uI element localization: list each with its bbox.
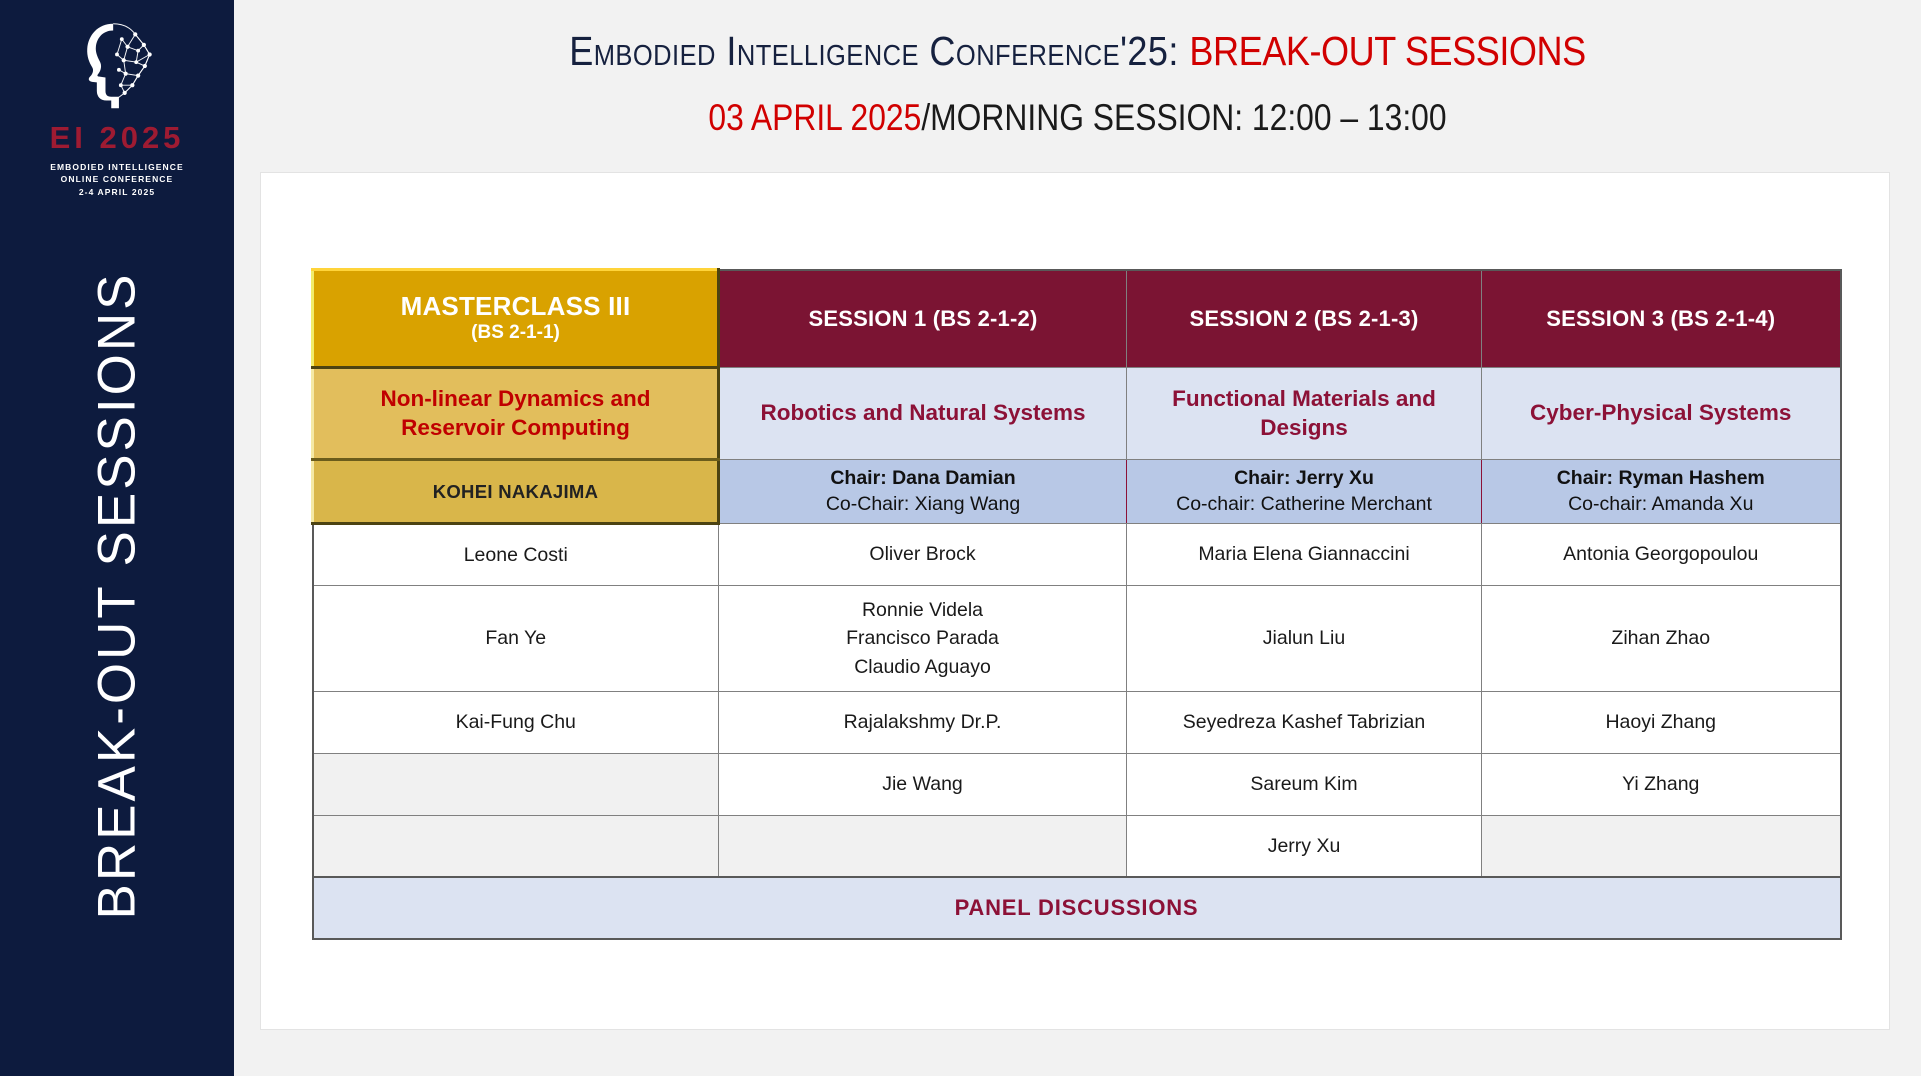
chair-session-3-name: Chair: Ryman Hashem: [1490, 466, 1832, 492]
topic-masterclass: Non-linear Dynamics and Reservoir Comput…: [313, 368, 719, 460]
cochair-session-2-name: Co-chair: Catherine Merchant: [1135, 492, 1473, 518]
page-title-main: Embodied Intelligence Conference'25:: [569, 28, 1189, 74]
chair-session-2-name: Chair: Jerry Xu: [1135, 466, 1473, 492]
slide-root: EI 2025 EMBODIED INTELLIGENCE ONLINE CON…: [0, 0, 1921, 1076]
speaker-name: Jialun Liu: [1133, 624, 1475, 652]
table-row: Leone Costi Oliver Brock Maria Elena Gia…: [313, 524, 1841, 586]
table-chair-row: KOHEI NAKAJIMA Chair: Dana Damian Co-Cha…: [313, 460, 1841, 524]
speaker-cell: Haoyi Zhang: [1482, 691, 1841, 753]
table-topic-row: Non-linear Dynamics and Reservoir Comput…: [313, 368, 1841, 460]
speaker-name: Zihan Zhao: [1488, 624, 1834, 652]
panel-discussions-label: PANEL DISCUSSIONS: [313, 877, 1841, 939]
speaker-cell: [1482, 815, 1841, 877]
chair-masterclass: KOHEI NAKAJIMA: [313, 460, 719, 524]
speaker-name: Francisco Parada: [725, 624, 1120, 652]
chair-session-2: Chair: Jerry Xu Co-chair: Catherine Merc…: [1127, 460, 1482, 524]
speaker-name: Jie Wang: [725, 770, 1120, 798]
topic-session-2: Functional Materials and Designs: [1127, 368, 1482, 460]
speaker-cell: [313, 815, 719, 877]
speaker-name: Leone Costi: [320, 541, 713, 569]
speaker-cell: Yi Zhang: [1482, 753, 1841, 815]
table-row: Fan Ye Ronnie VidelaFrancisco ParadaClau…: [313, 586, 1841, 692]
session-time: /MORNING SESSION: 12:00 – 13:00: [921, 97, 1446, 138]
speaker-name: Jerry Xu: [1133, 832, 1475, 860]
sidebar-vertical-title-text: BREAK-OUT SESSIONS: [87, 272, 148, 920]
speaker-name: Maria Elena Giannaccini: [1133, 540, 1475, 568]
speaker-cell: Kai-Fung Chu: [313, 691, 719, 753]
speaker-name: Oliver Brock: [725, 540, 1120, 568]
speaker-cell: Ronnie VidelaFrancisco ParadaClaudio Agu…: [719, 586, 1127, 692]
sidebar: EI 2025 EMBODIED INTELLIGENCE ONLINE CON…: [0, 0, 234, 1076]
page-title: Embodied Intelligence Conference'25: BRE…: [335, 28, 1820, 75]
column-header-session-3[interactable]: SESSION 3 (BS 2-1-4): [1482, 270, 1841, 368]
table-row: Kai-Fung Chu Rajalakshmy Dr.P. Seyedreza…: [313, 691, 1841, 753]
speaker-cell: [313, 753, 719, 815]
header: Embodied Intelligence Conference'25: BRE…: [234, 0, 1921, 165]
speaker-name: Yi Zhang: [1488, 770, 1834, 798]
chair-session-1-name: Chair: Dana Damian: [728, 466, 1118, 492]
speaker-cell: Rajalakshmy Dr.P.: [719, 691, 1127, 753]
column-header-masterclass[interactable]: MASTERCLASS III (BS 2-1-1): [313, 270, 719, 368]
speaker-cell: Oliver Brock: [719, 524, 1127, 586]
chair-session-1: Chair: Dana Damian Co-Chair: Xiang Wang: [719, 460, 1127, 524]
page-title-highlight: BREAK-OUT SESSIONS: [1189, 28, 1585, 74]
speaker-cell: Leone Costi: [313, 524, 719, 586]
chair-session-3: Chair: Ryman Hashem Co-chair: Amanda Xu: [1482, 460, 1841, 524]
cochair-session-3-name: Co-chair: Amanda Xu: [1490, 492, 1832, 518]
sidebar-vertical-title: BREAK-OUT SESSIONS: [0, 0, 234, 1076]
speaker-name: Seyedreza Kashef Tabrizian: [1133, 708, 1475, 736]
page-subtitle: 03 APRIL 2025/MORNING SESSION: 12:00 – 1…: [352, 97, 1803, 139]
speaker-cell: [719, 815, 1127, 877]
column-header-session-1[interactable]: SESSION 1 (BS 2-1-2): [719, 270, 1127, 368]
speaker-cell: Fan Ye: [313, 586, 719, 692]
speaker-cell: Maria Elena Giannaccini: [1127, 524, 1482, 586]
table-row: Jie Wang Sareum Kim Yi Zhang: [313, 753, 1841, 815]
speaker-name: Antonia Georgopoulou: [1488, 540, 1834, 568]
speaker-name: Rajalakshmy Dr.P.: [725, 708, 1120, 736]
speaker-name: Fan Ye: [320, 624, 713, 652]
column-header-masterclass-code: (BS 2-1-1): [322, 321, 709, 346]
speaker-cell: Antonia Georgopoulou: [1482, 524, 1841, 586]
table-row: Jerry Xu: [313, 815, 1841, 877]
speaker-name: Sareum Kim: [1133, 770, 1475, 798]
speaker-cell: Jerry Xu: [1127, 815, 1482, 877]
session-date: 03 APRIL 2025: [708, 97, 921, 138]
speaker-cell: Jialun Liu: [1127, 586, 1482, 692]
column-header-session-2[interactable]: SESSION 2 (BS 2-1-3): [1127, 270, 1482, 368]
speaker-cell: Jie Wang: [719, 753, 1127, 815]
cochair-session-1-name: Co-Chair: Xiang Wang: [728, 492, 1118, 518]
column-header-masterclass-title: MASTERCLASS III: [322, 291, 709, 322]
speaker-cell: Zihan Zhao: [1482, 586, 1841, 692]
topic-session-3: Cyber-Physical Systems: [1482, 368, 1841, 460]
schedule-table: MASTERCLASS III (BS 2-1-1) SESSION 1 (BS…: [311, 268, 1842, 940]
table-header-row: MASTERCLASS III (BS 2-1-1) SESSION 1 (BS…: [313, 270, 1841, 368]
speaker-cell: Seyedreza Kashef Tabrizian: [1127, 691, 1482, 753]
table-footer-row: PANEL DISCUSSIONS: [313, 877, 1841, 939]
speaker-cell: Sareum Kim: [1127, 753, 1482, 815]
topic-session-1: Robotics and Natural Systems: [719, 368, 1127, 460]
speaker-name: Kai-Fung Chu: [320, 708, 713, 736]
speaker-name: Claudio Aguayo: [725, 653, 1120, 681]
speaker-name: Haoyi Zhang: [1488, 708, 1834, 736]
speaker-name: Ronnie Videla: [725, 596, 1120, 624]
